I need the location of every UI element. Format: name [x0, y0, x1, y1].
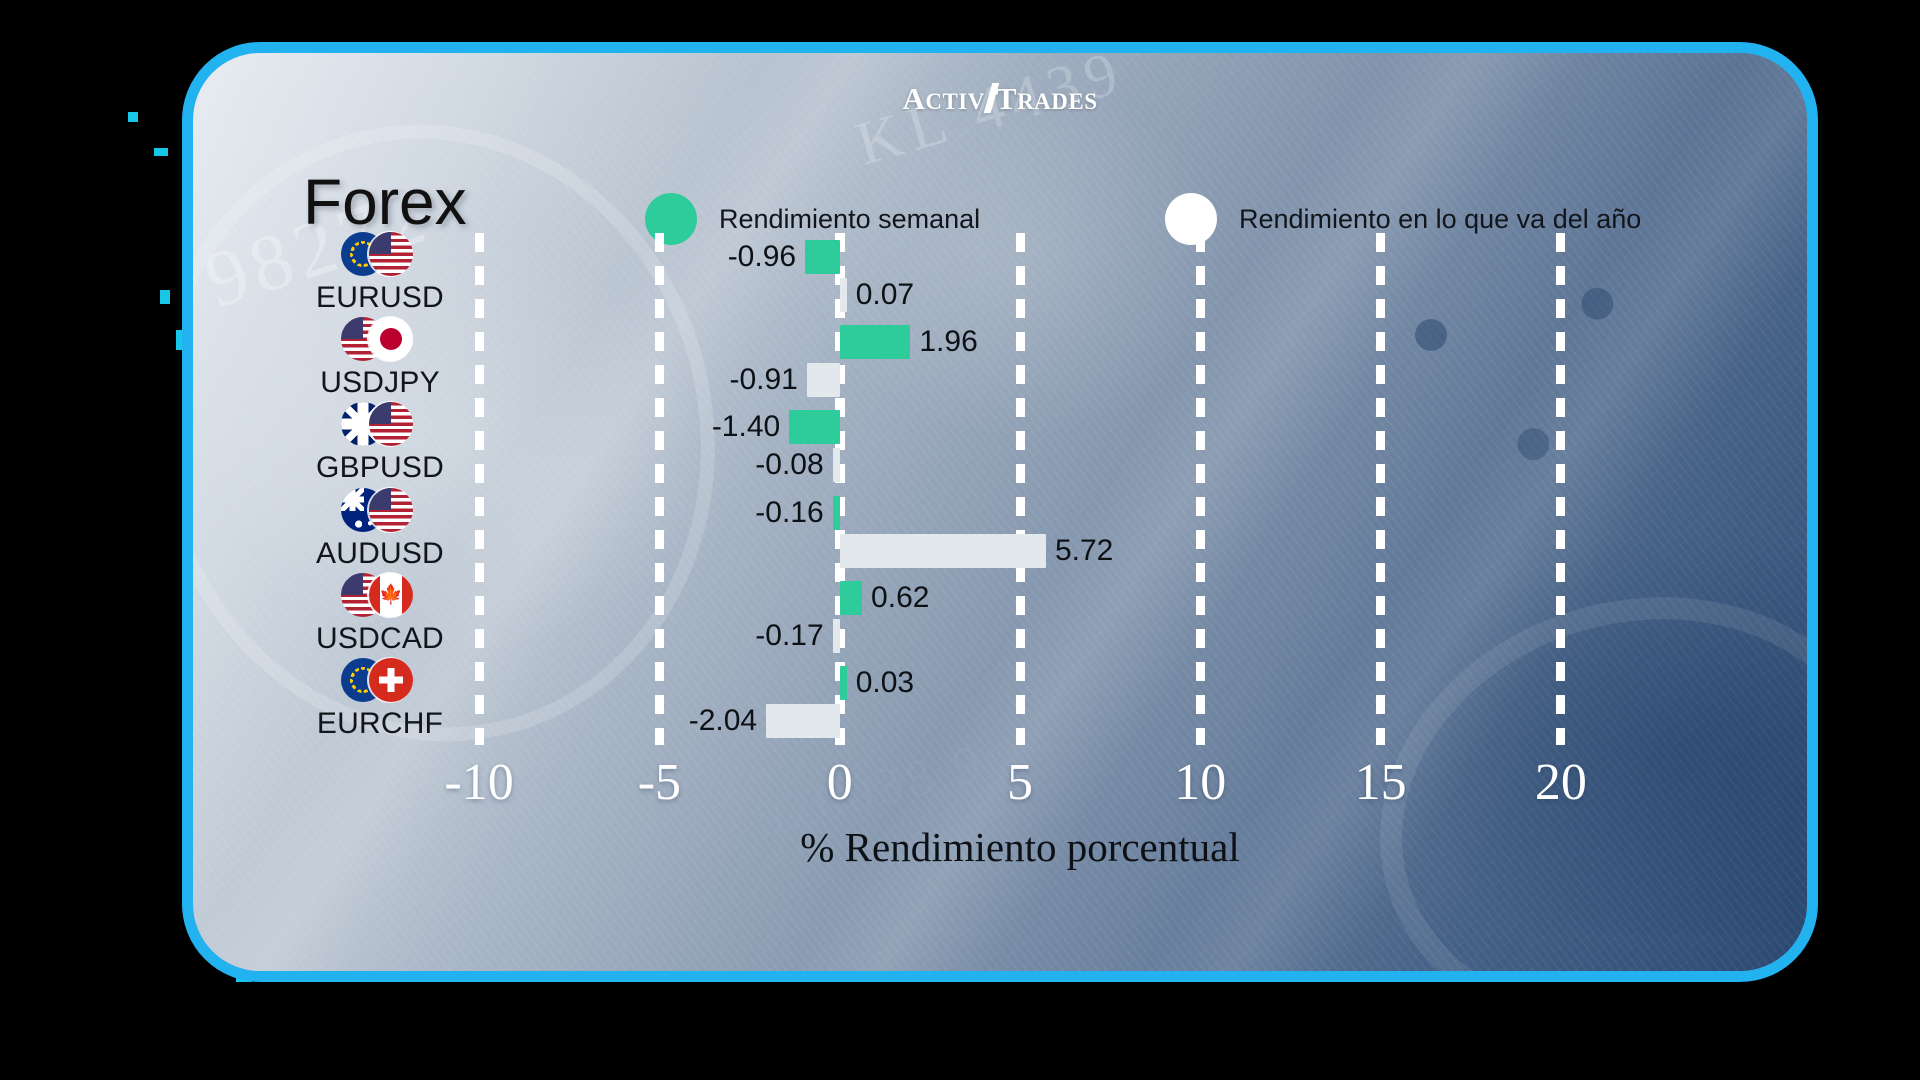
page-title: Forex: [303, 165, 467, 239]
category-gbpusd: GBPUSD: [265, 402, 495, 485]
card-content: ACTIVTRADES Forex Rendimiento semanal Re…: [193, 53, 1807, 971]
x-tick-15: 15: [1355, 753, 1407, 812]
value-label-usdjpy-ytd: -0.91: [729, 363, 806, 397]
jp-flag-icon: [369, 317, 413, 361]
value-label-eurusd-ytd: 0.07: [847, 278, 914, 312]
category-label: USDCAD: [265, 622, 495, 656]
bar-usdcad-ytd: [833, 619, 840, 653]
x-tick--10: -10: [444, 753, 513, 812]
legend-label-weekly: Rendimiento semanal: [719, 204, 980, 235]
category-audusd: AUDUSD: [265, 488, 495, 571]
x-tick-5: 5: [1007, 753, 1033, 812]
value-label-usdjpy-weekly: 1.96: [910, 325, 977, 359]
category-usdcad: USDCAD: [265, 573, 495, 656]
x-tick-10: 10: [1174, 753, 1226, 812]
artifact-speck: [128, 112, 138, 122]
x-axis-label: % Rendimiento porcentual: [425, 823, 1615, 871]
bar-gbpusd-weekly: [789, 410, 839, 444]
us-flag-icon: [369, 402, 413, 446]
category-eurchf: EURCHF: [265, 658, 495, 741]
bar-audusd-ytd: [840, 534, 1046, 568]
value-label-eurusd-weekly: -0.96: [728, 240, 805, 274]
activtrades-logo: ACTIVTRADES: [193, 81, 1807, 117]
category-label: EURUSD: [265, 281, 495, 315]
bar-eurusd-ytd: [840, 278, 847, 312]
flag-pair: [341, 488, 419, 534]
us-flag-icon: [369, 232, 413, 276]
flag-pair: [341, 317, 419, 363]
x-tick-0: 0: [827, 753, 853, 812]
gridline--5: [655, 233, 664, 745]
value-label-eurchf-ytd: -2.04: [689, 704, 766, 738]
logo-text-activ: CTIV: [925, 89, 985, 114]
bar-usdjpy-ytd: [807, 363, 840, 397]
bar-gbpusd-ytd: [833, 448, 840, 482]
screenshot-stage: 98272 KL 4439 520038 9 ACTIVTRADES Forex…: [0, 0, 1920, 1080]
bar-eurchf-weekly: [840, 666, 847, 700]
value-label-eurchf-weekly: 0.03: [847, 666, 914, 700]
ca-flag-icon: [369, 573, 413, 617]
bar-usdjpy-weekly: [840, 325, 911, 359]
value-label-audusd-ytd: 5.72: [1046, 534, 1113, 568]
gridline-10: [1196, 233, 1205, 745]
x-tick-20: 20: [1535, 753, 1587, 812]
legend-label-ytd: Rendimiento en lo que va del año: [1239, 204, 1641, 235]
category-label: USDJPY: [265, 366, 495, 400]
category-label: EURCHF: [265, 707, 495, 741]
artifact-speck: [160, 290, 170, 304]
bar-audusd-weekly: [833, 496, 840, 530]
bar-eurchf-ytd: [766, 704, 840, 738]
flag-pair: [341, 658, 419, 704]
category-label: GBPUSD: [265, 451, 495, 485]
gridline-20: [1556, 233, 1565, 745]
logo-text-rades: RADES: [1017, 89, 1097, 114]
category-eurusd: EURUSD: [265, 232, 495, 315]
category-usdjpy: USDJPY: [265, 317, 495, 400]
value-label-audusd-weekly: -0.16: [755, 496, 832, 530]
category-label: AUDUSD: [265, 537, 495, 571]
artifact-speck: [154, 148, 168, 156]
us-flag-icon: [369, 488, 413, 532]
value-label-gbpusd-ytd: -0.08: [755, 448, 832, 482]
flag-pair: [341, 573, 419, 619]
value-label-usdcad-weekly: 0.62: [862, 581, 929, 615]
bar-eurusd-weekly: [805, 240, 840, 274]
gridline-15: [1376, 233, 1385, 745]
flag-pair: [341, 402, 419, 448]
x-axis-ticks: -10-505101520: [425, 753, 1615, 813]
gridline-5: [1016, 233, 1025, 745]
bar-usdcad-weekly: [840, 581, 862, 615]
value-label-gbpusd-weekly: -1.40: [712, 410, 789, 444]
ch-flag-icon: [369, 658, 413, 702]
bar-chart-plot-area: -0.960.071.96-0.91-1.40-0.08-0.165.720.6…: [425, 233, 1615, 745]
flag-pair: [341, 232, 419, 278]
value-label-usdcad-ytd: -0.17: [755, 619, 832, 653]
forex-performance-card: 98272 KL 4439 520038 9 ACTIVTRADES Forex…: [182, 42, 1818, 982]
x-tick--5: -5: [638, 753, 681, 812]
